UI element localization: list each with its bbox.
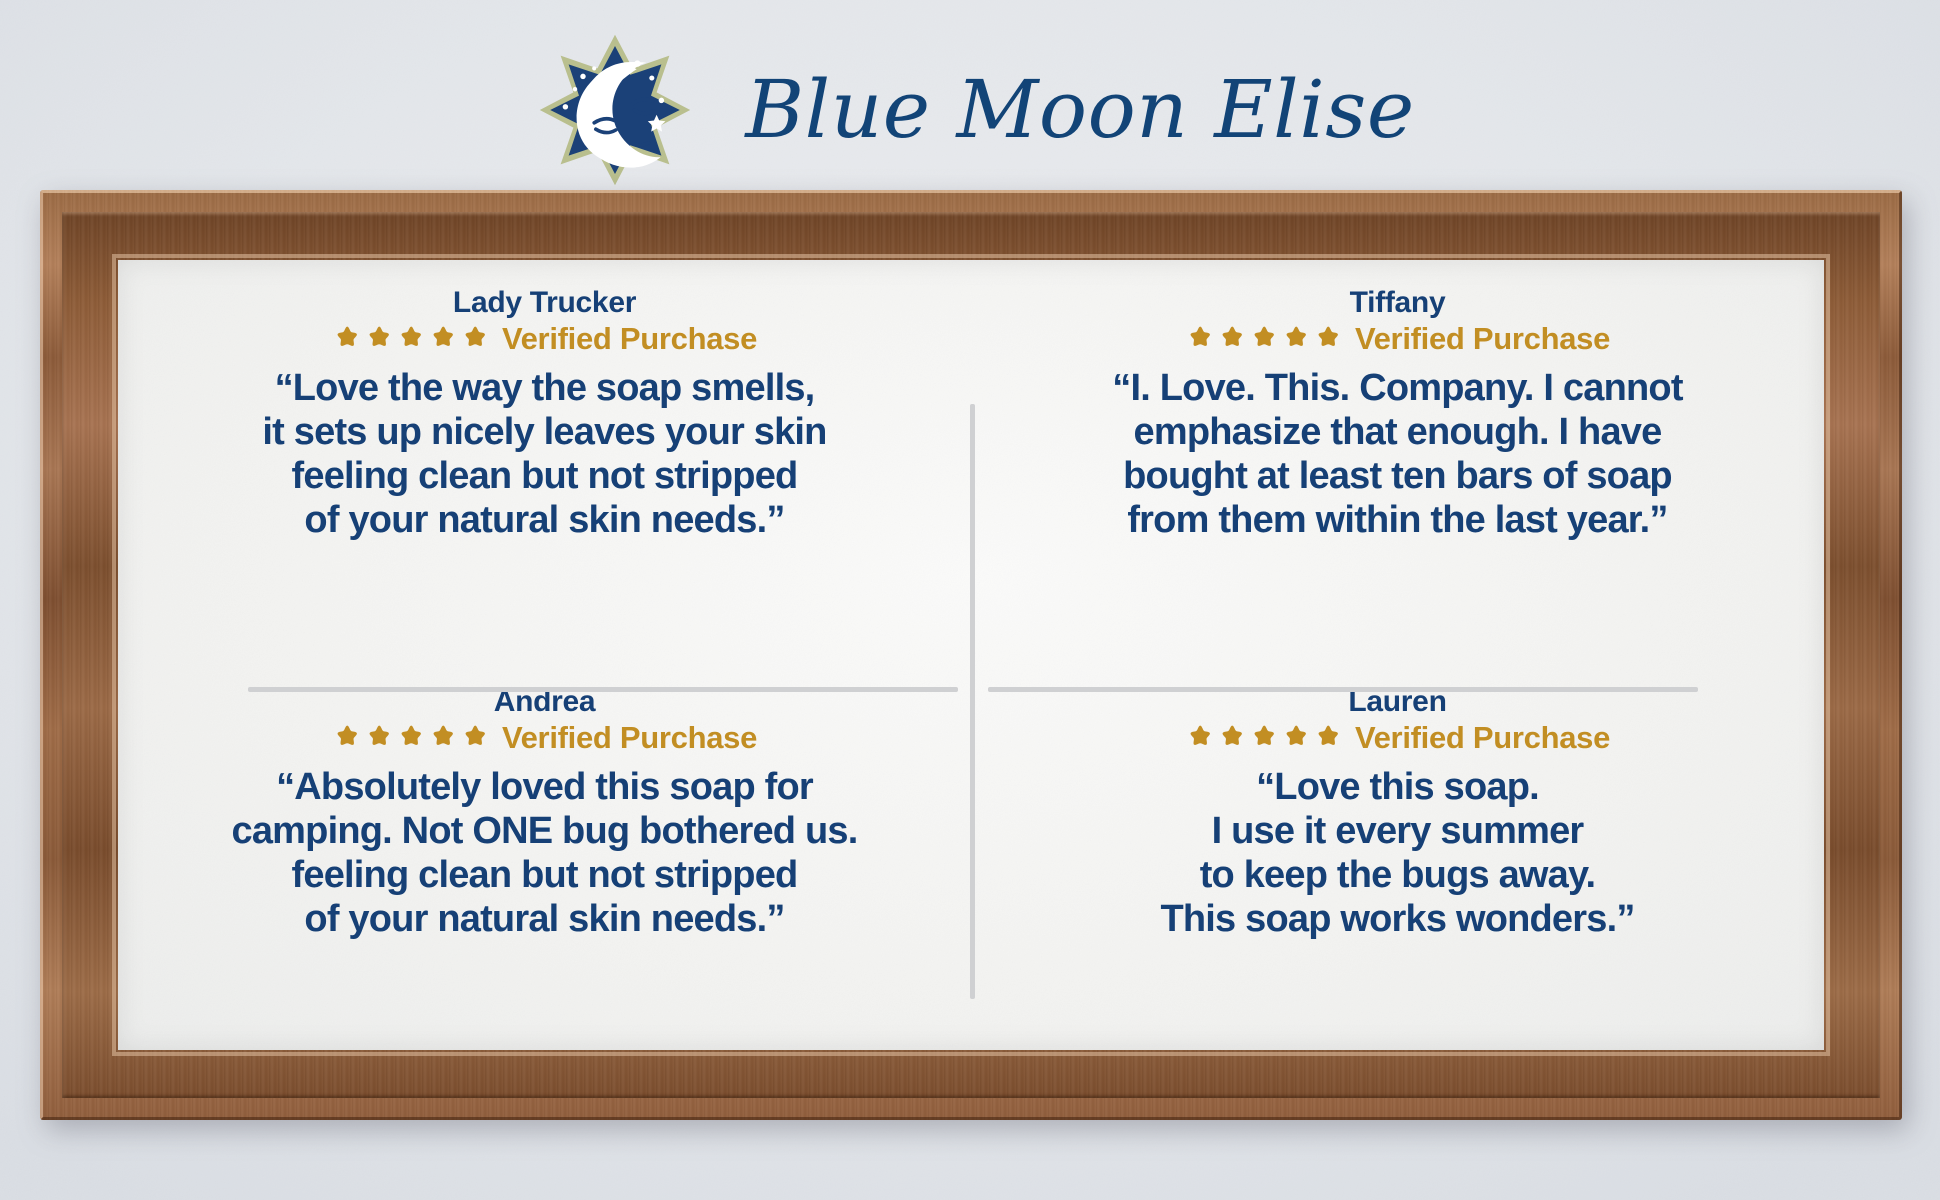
reviewer-name: Tiffany <box>1350 286 1446 319</box>
review-card-lady-trucker: Lady Trucker Verified Purchase “Love the… <box>118 260 971 655</box>
star-icon <box>364 723 394 753</box>
verified-purchase-badge: Verified Purchase <box>1355 323 1610 354</box>
brand-name: Blue Moon Elise <box>745 70 1414 150</box>
verified-purchase-badge: Verified Purchase <box>502 323 757 354</box>
star-icon <box>428 723 458 753</box>
star-icon <box>1313 723 1343 753</box>
star-icon <box>364 324 394 354</box>
review-card-andrea: Andrea Verified Purchase “Absolutely lov… <box>118 655 971 1050</box>
star-icon <box>1313 324 1343 354</box>
brand-header: Blue Moon Elise <box>0 30 1940 190</box>
reviewer-name: Lady Trucker <box>453 286 636 319</box>
star-rating <box>1185 723 1343 753</box>
star-icon <box>396 324 426 354</box>
star-icon <box>1281 324 1311 354</box>
star-rating <box>1185 324 1343 354</box>
star-icon <box>396 723 426 753</box>
star-icon <box>332 723 362 753</box>
star-icon <box>1185 723 1215 753</box>
star-icon <box>332 324 362 354</box>
artwork-canvas: Lady Trucker Verified Purchase “Love the… <box>118 260 1824 1050</box>
star-icon <box>1217 324 1247 354</box>
review-card-lauren: Lauren Verified Purchase “Love this soap… <box>971 655 1824 1050</box>
rating-row: Verified Purchase <box>1185 323 1610 354</box>
star-icon <box>1281 723 1311 753</box>
rating-row: Verified Purchase <box>332 722 757 753</box>
verified-purchase-badge: Verified Purchase <box>502 722 757 753</box>
rating-row: Verified Purchase <box>1185 722 1610 753</box>
picture-frame: Lady Trucker Verified Purchase “Love the… <box>40 190 1902 1120</box>
horizontal-divider-right <box>988 687 1698 692</box>
review-quote: “Absolutely loved this soap for camping.… <box>232 765 858 941</box>
star-icon <box>1249 723 1279 753</box>
horizontal-divider-left <box>248 687 958 692</box>
moon-star-logo-icon <box>525 30 705 190</box>
star-rating <box>332 723 490 753</box>
review-quote: “I. Love. This. Company. I cannot emphas… <box>1112 366 1682 542</box>
review-card-tiffany: Tiffany Verified Purchase “I. Love. This… <box>971 260 1824 655</box>
review-quote: “Love this soap. I use it every summer t… <box>1160 765 1634 941</box>
review-quote: “Love the way the soap smells, it sets u… <box>262 366 826 542</box>
rating-row: Verified Purchase <box>332 323 757 354</box>
star-icon <box>428 324 458 354</box>
star-icon <box>1249 324 1279 354</box>
vertical-divider <box>970 404 975 999</box>
star-icon <box>1217 723 1247 753</box>
star-rating <box>332 324 490 354</box>
wall-background: Blue Moon Elise Lady Trucker <box>0 0 1940 1200</box>
star-icon <box>460 324 490 354</box>
star-icon <box>460 723 490 753</box>
star-icon <box>1185 324 1215 354</box>
verified-purchase-badge: Verified Purchase <box>1355 722 1610 753</box>
